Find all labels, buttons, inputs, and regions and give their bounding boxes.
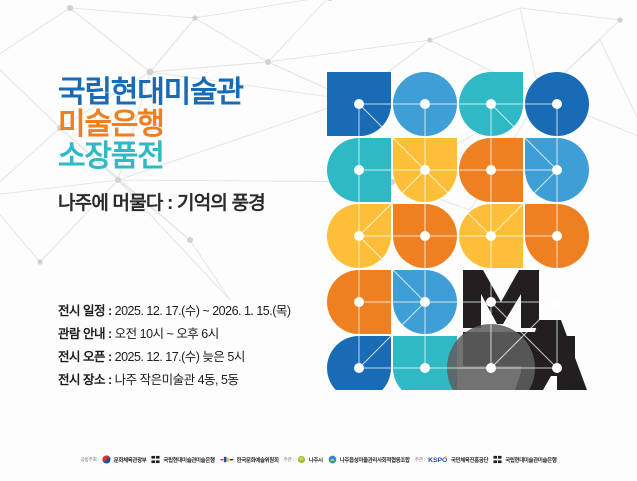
title-line-2: 미술은행 — [58, 110, 323, 140]
info-separator: : — [108, 350, 112, 364]
footer-name: 문화체육관광부 — [114, 456, 147, 464]
info-row: 전시 오픈 : 2025. 12. 17.(수) 늦은 5시 — [58, 346, 291, 365]
footer-group: 국립현대미술관미술은행 — [493, 451, 556, 469]
info-value: 나주 작은미술관 4동, 5동 — [115, 369, 239, 388]
footer-name: 나주읍성마을관리사회적협동조합 — [340, 456, 410, 464]
naju-coop-icon — [328, 451, 337, 469]
info-label: 관람 안내 — [58, 323, 105, 342]
poster-root: 국립현대미술관 미술은행 소장품전 나주에 머물다 : 기억의 풍경 전시 일정… — [0, 0, 637, 481]
footer-name: 한국문화예술위원회 — [237, 456, 279, 464]
title-line-3: 소장품전 — [58, 142, 323, 172]
footer-name: 국립현대미술관미술은행 — [505, 456, 556, 464]
kspo-icon: KSPO — [428, 451, 448, 469]
title-block: 국립현대미술관 미술은행 소장품전 나주에 머물다 : 기억의 풍경 — [58, 78, 323, 215]
footer-name: 국민체육진흥공단 — [451, 456, 488, 464]
info-value: 2025. 12. 17.(수) 늦은 5시 — [115, 346, 245, 365]
footer-group: 주관 : KSPO 국민체육진흥공단 — [415, 451, 489, 469]
mmca-mark-icon — [151, 451, 160, 469]
poster-subtitle: 나주에 머물다 : 기억의 풍경 — [58, 188, 323, 215]
footer-group: 나주읍성마을관리사회적협동조합 — [328, 451, 410, 469]
svg-text:KSPO: KSPO — [428, 457, 447, 464]
footer-name: 나주시 — [309, 456, 323, 464]
footer-group: 공동주최 : 문화체육관광부 — [81, 451, 147, 469]
mmca-mark-icon — [493, 451, 502, 469]
info-value: 2025. 12. 17.(수) ~ 2026. 1. 15.(목) — [115, 300, 291, 319]
title-line-1: 국립현대미술관 — [58, 78, 323, 108]
footer-role: 주관 : — [415, 457, 425, 463]
info-label: 전시 일정 — [58, 300, 105, 319]
mmca-grid-graphic — [325, 70, 591, 390]
info-row: 관람 안내 : 오전 10시 ~ 오후 6시 — [58, 323, 291, 342]
footer-role: 공동주최 : — [81, 457, 99, 463]
footer-logo-bar: 공동주최 : 문화체육관광부 국립현대미술관미술은행 — [0, 451, 637, 469]
info-label: 전시 오픈 — [58, 346, 105, 365]
naju-city-icon — [297, 451, 306, 469]
info-row: 전시 장소 : 나주 작은미술관 4동, 5동 — [58, 369, 291, 388]
info-label: 전시 장소 — [58, 369, 105, 388]
info-value: 오전 10시 ~ 오후 6시 — [115, 323, 219, 342]
info-row: 전시 일정 : 2025. 12. 17.(수) ~ 2026. 1. 15.(… — [58, 300, 291, 319]
info-separator: : — [108, 304, 112, 318]
footer-group: 한국문화예술위원회 — [220, 451, 279, 469]
info-separator: : — [108, 373, 112, 387]
exhibition-info-block: 전시 일정 : 2025. 12. 17.(수) ~ 2026. 1. 15.(… — [58, 300, 291, 392]
taegeuk-icon — [102, 451, 111, 469]
artwork-svg — [325, 70, 591, 390]
arko-mark-icon — [220, 451, 234, 469]
footer-group: 주관 : 나주시 — [284, 451, 323, 469]
footer-group: 국립현대미술관미술은행 — [151, 451, 214, 469]
footer-role: 주관 : — [284, 457, 294, 463]
info-separator: : — [108, 327, 112, 341]
footer-name: 국립현대미술관미술은행 — [163, 456, 214, 464]
